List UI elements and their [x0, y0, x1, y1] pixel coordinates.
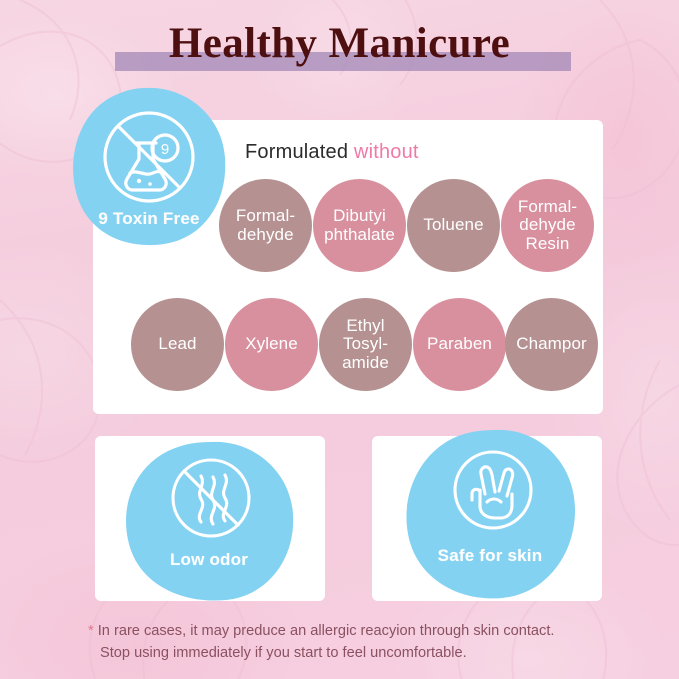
- safe-for-skin-label: Safe for skin: [404, 546, 576, 566]
- ingredient-circle: Formal- dehyde Resin: [501, 179, 594, 272]
- svg-text:9: 9: [161, 141, 169, 158]
- disclaimer-line-1: In rare cases, it may preduce an allergi…: [94, 623, 555, 639]
- ingredient-circle: Paraben: [413, 298, 506, 391]
- ingredient-circle: Champor: [505, 298, 598, 391]
- product-infographic: Healthy Manicure 9 9 Toxin Free: [0, 0, 679, 679]
- without-word: without: [354, 141, 419, 163]
- disclaimer-line-2: Stop using immediately if you start to f…: [88, 642, 608, 664]
- ingredient-circle: Dibutyi phthalate: [313, 179, 406, 272]
- page-title-block: Healthy Manicure: [0, 18, 679, 70]
- ingredient-circle: Lead: [131, 298, 224, 391]
- ingredient-circle: Toluene: [407, 179, 500, 272]
- no-odor-waves-icon: [165, 452, 257, 544]
- formulated-without-heading: Formulated without: [245, 141, 419, 164]
- ingredient-circle: Formal- dehyde: [219, 179, 312, 272]
- ingredient-circle: Xylene: [225, 298, 318, 391]
- ingredient-circle: Ethyl Tosyl- amide: [319, 298, 412, 391]
- toxin-free-label: 9 Toxin Free: [72, 209, 226, 229]
- disclaimer-note: * In rare cases, it may preduce an aller…: [88, 620, 608, 664]
- page-title: Healthy Manicure: [0, 18, 679, 70]
- no-chemicals-flask-icon: 9: [97, 105, 201, 209]
- peace-hand-icon: [447, 444, 539, 536]
- low-odor-label: Low odor: [124, 550, 294, 570]
- formulated-word: Formulated: [245, 141, 354, 163]
